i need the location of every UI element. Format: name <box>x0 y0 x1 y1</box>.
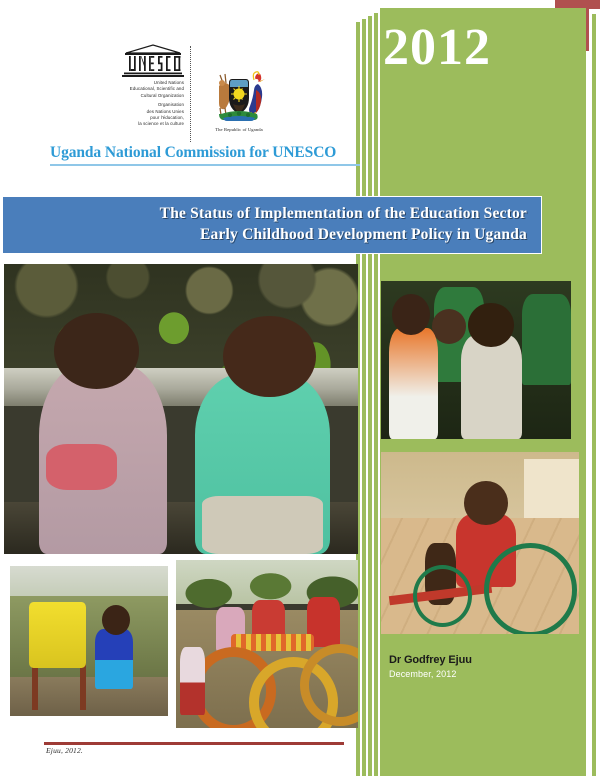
green-panel-stripe-3 <box>368 16 372 776</box>
logo-lockup: United Nations Educational, Scientific a… <box>100 44 280 144</box>
unesco-temple-icon <box>122 44 184 78</box>
unesco-wordmark-text: United Nations Educational, Scientific a… <box>100 80 186 128</box>
photo-two-children-on-bench <box>4 264 358 554</box>
author-block: Dr Godfrey Ejuu December, 2012 <box>389 654 569 679</box>
photo-child-right-head <box>223 316 315 397</box>
photo-wheelchair-large-wheel <box>484 543 577 634</box>
photo-classroom-head-2 <box>468 303 514 347</box>
photo-child-left-head <box>54 313 139 388</box>
title-line-1: The Status of Implementation of the Educ… <box>160 204 527 225</box>
photo-classroom-child-white-shirt <box>461 335 522 439</box>
uganda-coat-of-arms: The Republic of Uganda <box>198 66 280 132</box>
photo-wheelchair-small-wheel <box>413 565 472 628</box>
organization-underline <box>50 164 360 166</box>
unesco-en-line-3: Cultural Organization <box>100 93 184 99</box>
photo-wheelchair-child-head <box>464 481 508 525</box>
organization-name-block: Uganda National Commission for UNESCO <box>50 144 362 166</box>
green-panel-stripe-4 <box>374 13 378 776</box>
cover-page: 2012 <box>0 0 600 776</box>
photo-classroom-child-orange-dress <box>389 328 438 439</box>
author-name: Dr Godfrey Ejuu <box>389 654 569 666</box>
organization-name: Uganda National Commission for UNESCO <box>50 144 362 162</box>
unesco-fr-line-4: la science et la culture <box>100 121 184 127</box>
title-line-2: Early Childhood Development Policy in Ug… <box>200 225 527 246</box>
photo-credit-caption: Ejuu, 2012. <box>46 746 83 755</box>
photo-child-left-sleeve <box>46 444 117 490</box>
photo-handwash-child-head <box>102 605 130 635</box>
photo-child-handwashing <box>10 566 168 716</box>
year-label: 2012 <box>383 22 491 74</box>
photo-handwash-sky <box>10 566 168 599</box>
logo-divider <box>190 46 192 142</box>
uganda-coat-of-arms-icon <box>208 66 270 126</box>
photo-handwash-stand-leg-left <box>32 662 38 710</box>
photo-handwash-stand-leg-right <box>80 662 86 710</box>
photo-handwash-yellow-jerrycan <box>29 602 86 668</box>
photo-classroom-head-1 <box>392 294 430 335</box>
green-panel-stripe-2 <box>362 19 366 776</box>
photo-classroom-uniform-2 <box>522 294 571 386</box>
green-panel-stripe-right <box>592 14 596 776</box>
publication-date: December, 2012 <box>389 669 569 679</box>
photo-handwash-child-dress <box>95 629 133 689</box>
photo-wheelchair-doorway <box>524 459 579 517</box>
title-banner: The Status of Implementation of the Educ… <box>2 196 542 254</box>
caption-rule <box>44 742 344 745</box>
photo-classroom-children <box>381 281 571 439</box>
photo-children-on-tyre-playground <box>176 560 358 728</box>
photo-child-right-trousers <box>202 496 322 554</box>
photo-tyre-child-4 <box>180 647 205 714</box>
unesco-logo: United Nations Educational, Scientific a… <box>100 44 186 128</box>
uganda-coat-of-arms-caption: The Republic of Uganda <box>198 127 280 132</box>
photo-child-in-wheelchair <box>381 452 579 634</box>
